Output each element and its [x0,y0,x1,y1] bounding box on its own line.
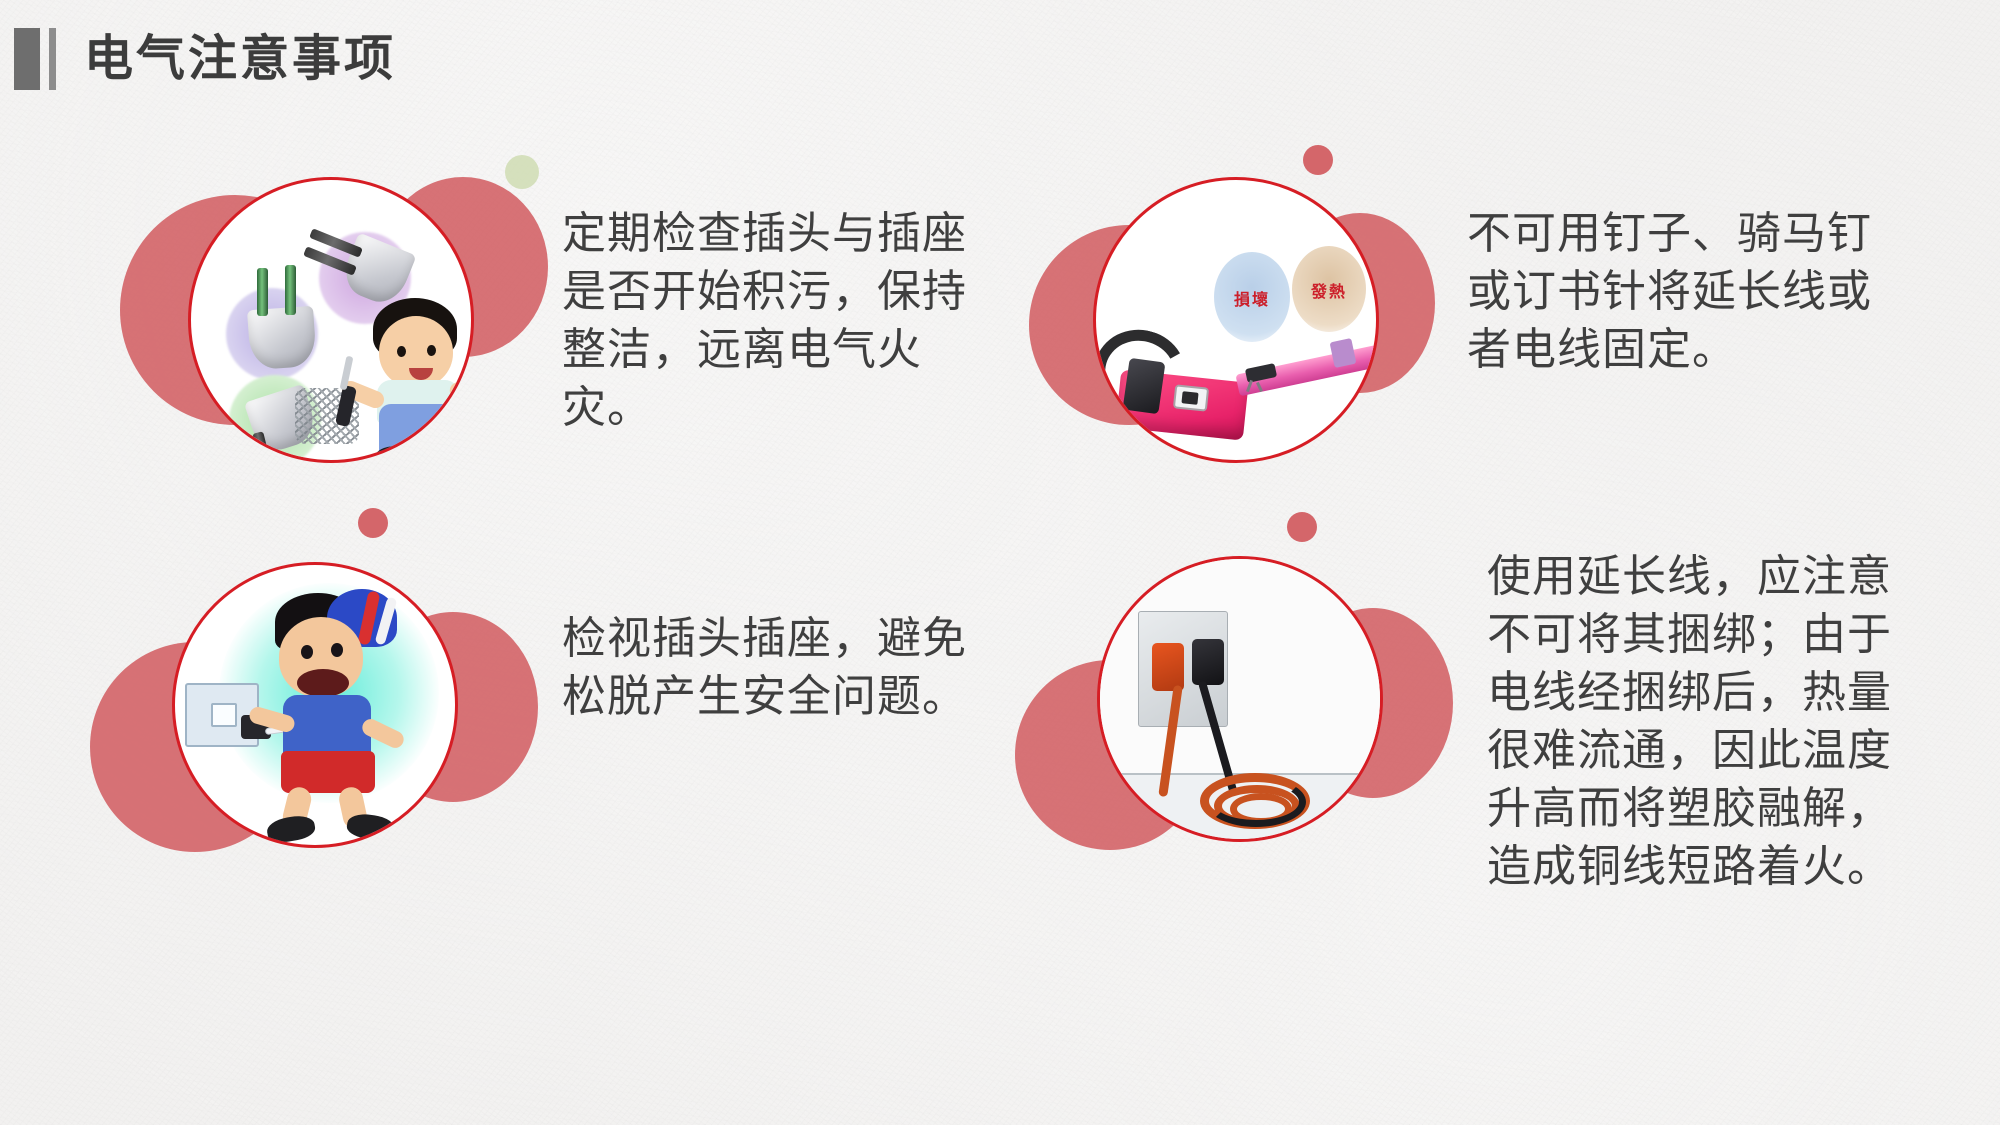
item-3-image [172,562,458,848]
plug-pin-icon [257,268,268,316]
decor-dot-red [1287,512,1317,542]
boy-leg [423,452,449,463]
item-4-media [1025,500,1425,830]
boy-eye [301,645,313,659]
black-plug-icon [1192,639,1224,685]
decor-dot-red [1303,145,1333,175]
cloud-damage-label: 損壞 [1214,286,1290,310]
item-2: 損壞 發熱 [1035,165,1935,465]
boy-eye [331,643,343,657]
black-wire-overlay-icon [1206,777,1306,827]
page-title: 电气注意事项 [84,35,396,84]
page-header: 电气注意事项 [0,28,396,90]
item-4-image [1097,556,1383,842]
item-4: 使用延长线，应注意 不可将其捆绑；由于 电线经捆绑后，热量 很难流通，因此温度 … [1025,500,1945,920]
item-3-media [100,500,500,830]
boy-mouth-shouting [297,669,349,697]
plugs-and-boy-illustration [191,180,471,460]
plug-pin-icon [285,265,296,315]
boy-shoe [375,446,417,463]
coiled-extension-cord-photo [1100,559,1380,839]
item-1-image [188,177,474,463]
electric-shock-boy-illustration [175,565,455,845]
item-1-media [130,165,530,495]
item-3: 检视插头插座，避免 松脱产生安全问题。 [100,500,980,830]
item-4-caption: 使用延长线，应注意 不可将其捆绑；由于 电线经捆绑后，热量 很难流通，因此温度 … [1487,548,1917,896]
cord-connector-icon [1330,338,1357,368]
infographic-page: 电气注意事项 [0,0,2000,1125]
item-1-caption: 定期检查插头与插座 是否开始积污，保持 整洁，远离电气火灾。 [562,205,982,437]
decor-dot-green [505,155,539,189]
cloud-heat: 發熱 [1292,246,1366,332]
boy-shoe [265,813,316,845]
item-2-media: 損壞 發熱 [1035,165,1435,495]
plug-inserted-icon [1123,358,1166,415]
item-2-caption: 不可用钉子、骑马钉 或订书针将延长线或 者电线固定。 [1467,205,1887,379]
title-marker-thick-bar [14,28,40,90]
decor-dot-red [358,508,388,538]
orange-plug-icon [1152,643,1184,691]
boy-eye [427,345,436,356]
item-1: 定期检查插头与插座 是否开始积污，保持 整洁，远离电气火灾。 [130,165,990,465]
boy-eye [397,346,406,357]
stapled-extension-cord-illustration: 損壞 發熱 [1096,180,1376,460]
cloud-heat-label: 發熱 [1292,278,1366,302]
title-marker-thin-bar [49,28,56,90]
item-2-image: 損壞 發熱 [1093,177,1379,463]
wall-outlet-socket-icon [211,703,237,727]
item-3-caption: 检视插头插座，避免 松脱产生安全问题。 [562,610,982,726]
boy-shirt [283,695,371,757]
boy-shoe [346,812,397,842]
cloud-damage: 損壞 [1214,252,1290,342]
power-strip-switch-icon [1181,391,1198,405]
